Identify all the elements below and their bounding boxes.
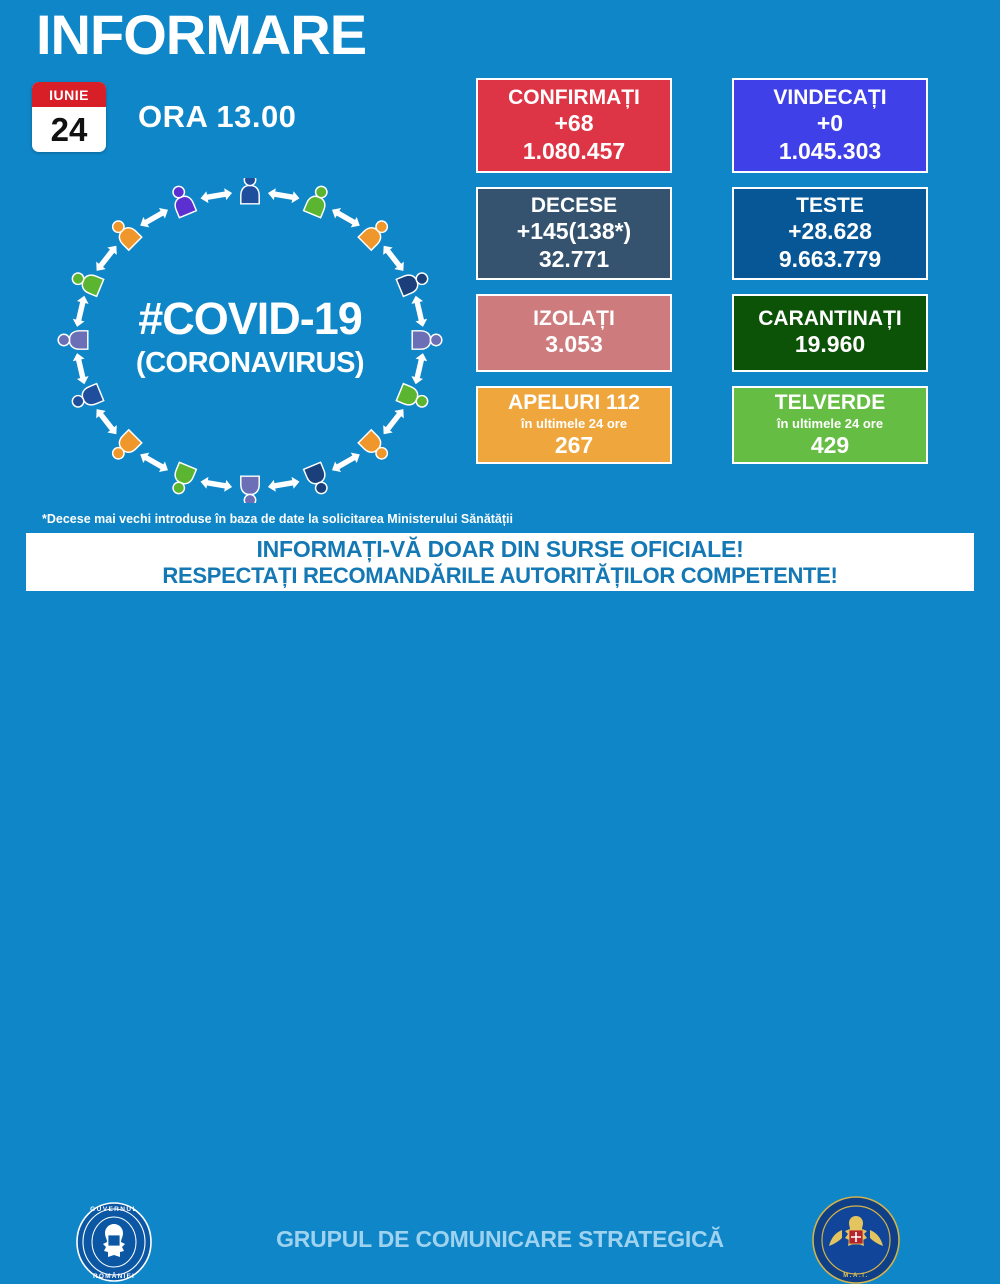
- connector-arrow-icon: [329, 205, 363, 231]
- stat-card-apeluri-112[interactable]: APELURI 112 în ultimele 24 ore 267: [476, 386, 672, 464]
- stat-card-confirmati[interactable]: CONFIRMAȚI +68 1.080.457: [476, 78, 672, 173]
- person-figure-icon: [69, 268, 103, 296]
- stats-grid: CONFIRMAȚI +68 1.080.457 VINDECAȚI +0 1.…: [476, 78, 976, 478]
- stat-delta: +68: [482, 110, 666, 138]
- person-figure-icon: [241, 178, 259, 204]
- people-circle-svg: [30, 178, 470, 503]
- connector-arrow-icon: [200, 187, 234, 204]
- footnote: *Decese mai vechi introduse în baza de d…: [42, 512, 513, 526]
- person-figure-icon: [412, 331, 442, 349]
- stat-total: 267: [482, 432, 666, 460]
- person-figure-icon: [168, 462, 196, 496]
- stat-label: APELURI 112: [482, 391, 666, 415]
- connector-arrow-icon: [379, 242, 408, 275]
- stat-sublabel: în ultimele 24 ore: [482, 416, 666, 432]
- stats-row-1: CONFIRMAȚI +68 1.080.457 VINDECAȚI +0 1.…: [476, 78, 976, 173]
- stat-total: 32.771: [482, 246, 666, 274]
- connector-arrow-icon: [410, 352, 429, 386]
- stat-total: 9.663.779: [738, 246, 922, 274]
- connector-arrow-icon: [267, 187, 301, 204]
- person-figure-icon: [58, 331, 88, 349]
- stat-card-vindecati[interactable]: VINDECAȚI +0 1.045.303: [732, 78, 928, 173]
- stat-label: TELVERDE: [738, 391, 922, 415]
- person-figure-icon: [108, 430, 142, 464]
- person-figure-icon: [108, 216, 142, 250]
- connector-arrow-icon: [71, 352, 90, 386]
- stat-label: TESTE: [738, 194, 922, 218]
- person-figure-icon: [396, 384, 430, 412]
- stat-card-telverde[interactable]: TELVERDE în ultimele 24 ore 429: [732, 386, 928, 464]
- stat-label: CARANTINAȚI: [738, 307, 922, 331]
- page-title: INFORMARE: [36, 6, 366, 65]
- stats-row-4: APELURI 112 în ultimele 24 ore 267 TELVE…: [476, 386, 976, 464]
- stat-label: CONFIRMAȚI: [482, 86, 666, 110]
- person-figure-icon: [304, 462, 332, 496]
- svg-text:M.A.I.: M.A.I.: [843, 1273, 869, 1279]
- person-figure-icon: [358, 430, 392, 464]
- person-figure-icon: [69, 384, 103, 412]
- stat-delta: +28.628: [738, 218, 922, 246]
- stat-sublabel: în ultimele 24 ore: [738, 416, 922, 432]
- stat-label: DECESE: [482, 194, 666, 218]
- stat-delta: +0: [738, 110, 922, 138]
- calendar-day-label: 24: [32, 107, 106, 152]
- stat-card-carantinati[interactable]: CARANTINAȚI 19.960: [732, 294, 928, 372]
- svg-text:ROMÂNIEI: ROMÂNIEI: [93, 1271, 135, 1280]
- connector-arrow-icon: [267, 476, 301, 493]
- stat-label: IZOLAȚI: [482, 307, 666, 331]
- stat-total: 1.045.303: [738, 138, 922, 166]
- banner-line-1: INFORMAȚI-VĂ DOAR DIN SURSE OFICIALE!: [256, 536, 743, 562]
- stat-total: 1.080.457: [482, 138, 666, 166]
- svg-text:GUVERNUL: GUVERNUL: [90, 1206, 138, 1213]
- stats-row-2: DECESE +145(138*) 32.771 TESTE +28.628 9…: [476, 187, 976, 280]
- connector-arrow-icon: [92, 405, 121, 438]
- person-figure-icon: [168, 183, 196, 217]
- connector-arrow-icon: [71, 294, 90, 328]
- people-circle-icon: #COVID-19 (CORONAVIRUS): [30, 178, 470, 503]
- dsu-mai-emblem-icon: M.A.I.: [812, 1196, 900, 1284]
- stat-total: 3.053: [482, 331, 666, 359]
- connector-arrow-icon: [92, 242, 121, 275]
- calendar-month-label: IUNIE: [32, 82, 106, 107]
- stat-card-teste[interactable]: TESTE +28.628 9.663.779: [732, 187, 928, 280]
- connector-arrow-icon: [137, 449, 171, 475]
- calendar-icon: IUNIE 24: [32, 82, 106, 152]
- person-figure-icon: [396, 268, 430, 296]
- stat-label: VINDECAȚI: [738, 86, 922, 110]
- stat-card-izolati[interactable]: IZOLAȚI 3.053: [476, 294, 672, 372]
- person-figure-icon: [358, 216, 392, 250]
- connector-arrow-icon: [200, 476, 234, 493]
- connector-arrow-icon: [410, 294, 429, 328]
- connector-arrow-icon: [329, 449, 363, 475]
- stats-row-3: IZOLAȚI 3.053 CARANTINAȚI 19.960: [476, 294, 976, 372]
- stat-delta: +145(138*): [482, 218, 666, 246]
- stat-total: 429: [738, 432, 922, 460]
- ring-people: [58, 178, 442, 503]
- person-figure-icon: [304, 183, 332, 217]
- hour-label: ORA 13.00: [138, 99, 296, 135]
- connector-arrow-icon: [137, 205, 171, 231]
- connector-arrow-icon: [379, 405, 408, 438]
- official-sources-banner: INFORMAȚI-VĂ DOAR DIN SURSE OFICIALE! RE…: [26, 533, 974, 591]
- footer: GUVERNUL ROMÂNIEI GRUPUL DE COMUNICARE S…: [0, 598, 1000, 688]
- person-figure-icon: [241, 476, 259, 503]
- banner-line-2: RESPECTAȚI RECOMANDĂRILE AUTORITĂȚILOR C…: [162, 563, 837, 588]
- date-row: IUNIE 24 ORA 13.00: [32, 82, 296, 152]
- stat-total: 19.960: [738, 331, 922, 359]
- stat-card-decese[interactable]: DECESE +145(138*) 32.771: [476, 187, 672, 280]
